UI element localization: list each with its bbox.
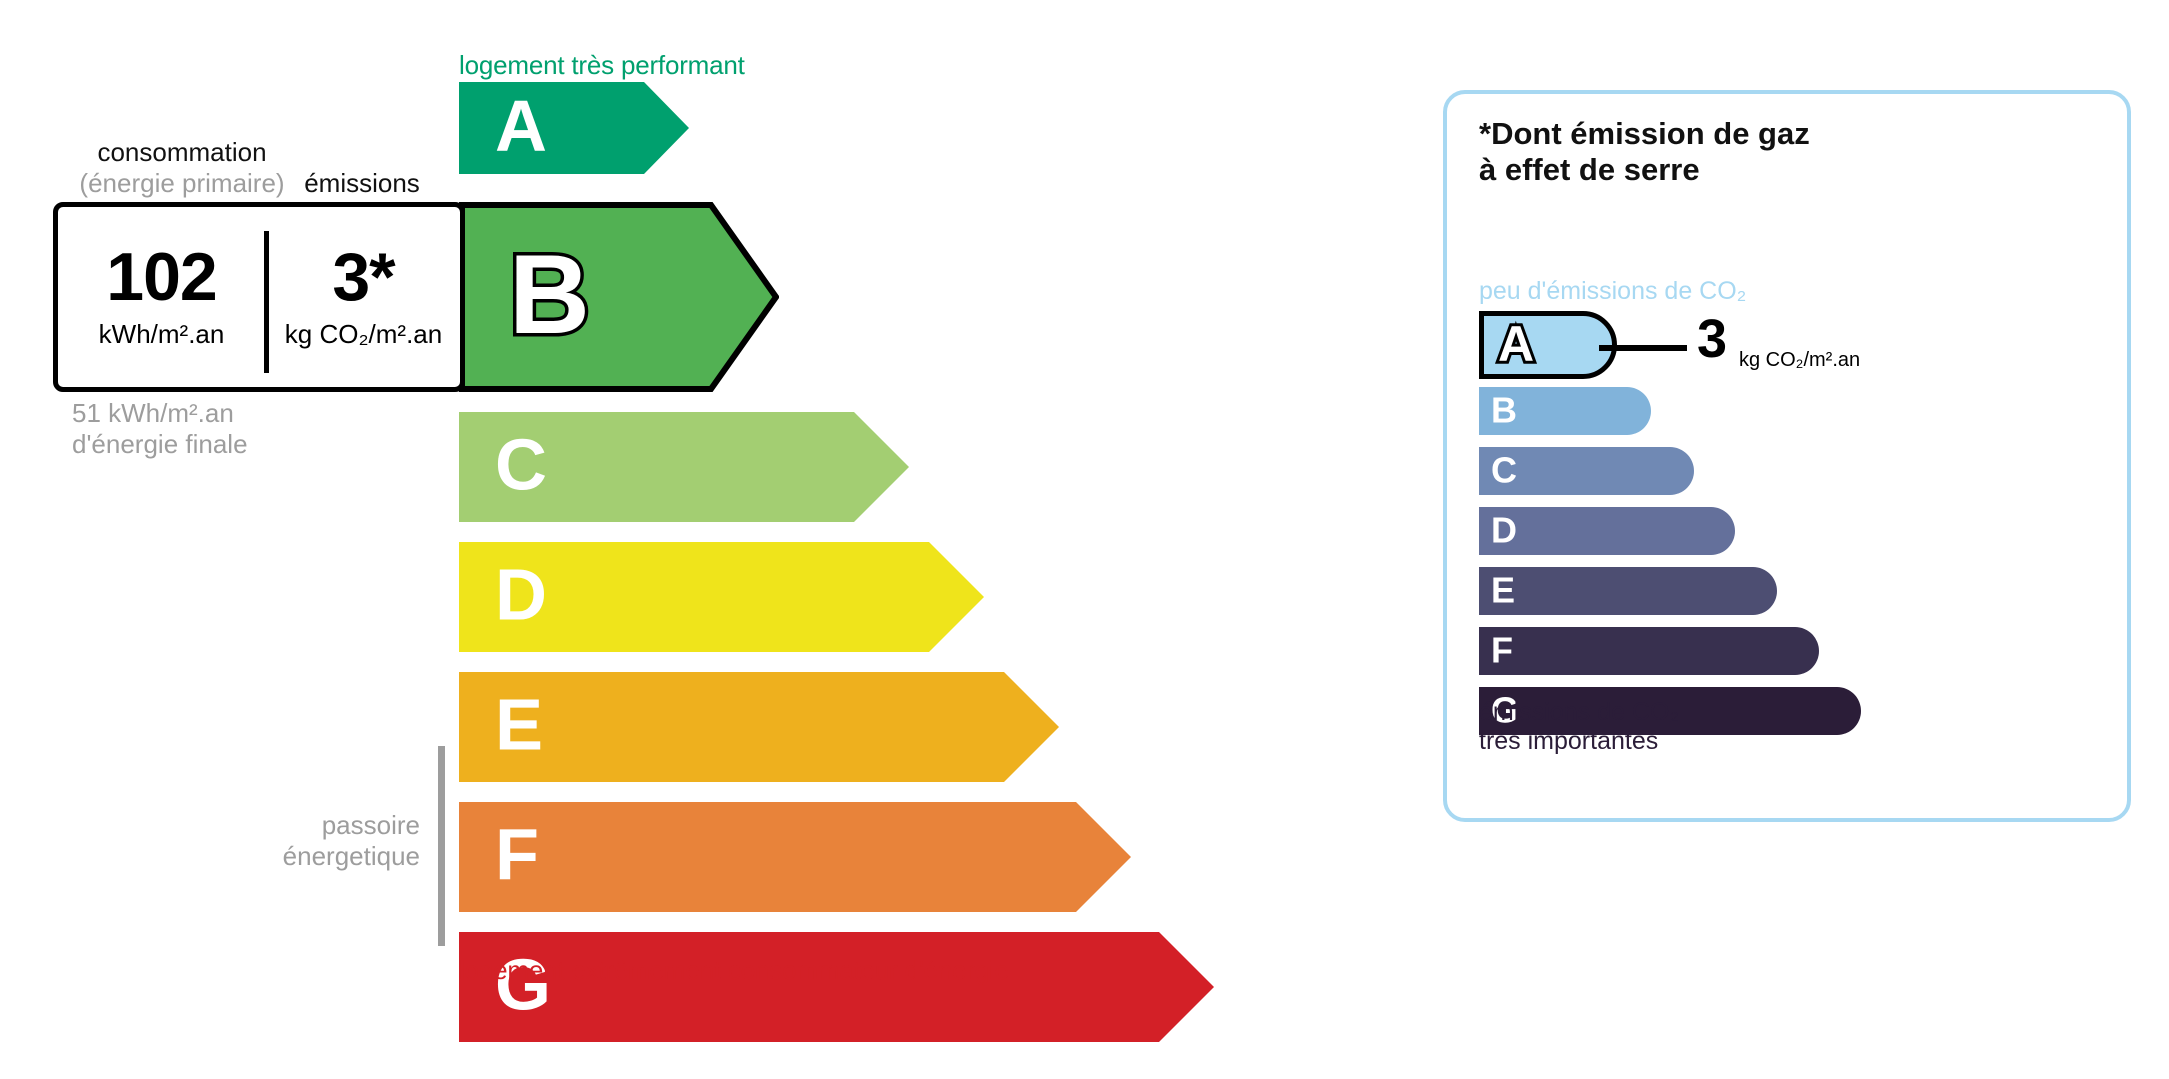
energy-band-g: G: [459, 932, 1214, 1042]
ges-title-line-2: à effet de serre: [1479, 152, 1810, 188]
energy-band-shape-g: [459, 932, 1214, 1042]
emission-unit: kg CO₂/m².an: [285, 319, 442, 350]
ges-title-line-1: *Dont émission de gaz: [1479, 116, 1810, 152]
passoire-label-line-2: énergetique: [230, 841, 420, 872]
ges-bar-d: D: [1479, 507, 1735, 555]
ges-bottom-caption-line-2: très importantes: [1479, 727, 1679, 756]
value-box: 102 kWh/m².an 3* kg CO₂/m².an: [53, 202, 465, 392]
ges-bar-c: C: [1479, 447, 1694, 495]
energy-band-c: C: [459, 412, 909, 522]
consumption-number: 102: [106, 244, 216, 311]
energy-band-f: F: [459, 802, 1131, 912]
ges-bar-b: B: [1479, 387, 1651, 435]
final-energy-line-2: d'énergie finale: [72, 429, 248, 460]
ges-bottom-caption-line-1: émissions de CO₂: [1479, 698, 1679, 727]
final-energy-line-1: 51 kWh/m².an: [72, 398, 248, 429]
dpe-energy-diagram: logement très performant consommation (é…: [0, 0, 1400, 1079]
passoire-bracket: [438, 746, 445, 946]
energy-band-shape-c: [459, 412, 909, 522]
ges-bottom-caption: émissions de CO₂ très importantes: [1479, 698, 1679, 756]
header-emissions: émissions: [262, 168, 462, 199]
energy-band-a: A: [459, 82, 689, 174]
energy-band-shape-f: [459, 802, 1131, 912]
ges-bar-e: E: [1479, 567, 1777, 615]
ges-value: 3: [1697, 312, 1727, 366]
header-consommation: consommation: [62, 137, 302, 168]
emission-value-cell: 3* kg CO₂/m².an: [265, 207, 462, 387]
ges-panel: *Dont émission de gaz à effet de serre p…: [1443, 90, 2131, 822]
ges-leader-line: [1599, 345, 1687, 351]
energy-band-shape-e: [459, 672, 1059, 782]
energy-band-shape-b: [459, 202, 779, 392]
consumption-value-cell: 102 kWh/m².an: [58, 207, 265, 387]
ges-bar-letter-b: B: [1491, 392, 1517, 428]
ges-bar-letter-f: F: [1491, 632, 1513, 668]
energy-band-shape-d: [459, 542, 984, 652]
energy-band-b: B: [459, 202, 779, 392]
emission-number: 3*: [332, 244, 394, 311]
passoire-label: passoire énergetique: [230, 810, 420, 871]
consumption-unit: kWh/m².an: [99, 319, 225, 350]
energy-bottom-caption: logement extrêmement consommateur d'éner…: [459, 955, 1009, 986]
energy-band-shape-a: [459, 82, 689, 174]
ges-bar-a: A: [1479, 311, 1617, 379]
ges-bar-letter-c: C: [1491, 452, 1517, 488]
passoire-label-line-1: passoire: [230, 810, 420, 841]
energy-top-caption: logement très performant: [459, 50, 745, 81]
energy-band-d: D: [459, 542, 984, 652]
ges-bar-f: F: [1479, 627, 1819, 675]
ges-value-unit: kg CO₂/m².an: [1739, 349, 1860, 372]
ges-bar-letter-a: A: [1498, 319, 1534, 369]
ges-bar-letter-e: E: [1491, 572, 1515, 608]
ges-bar-letter-d: D: [1491, 512, 1517, 548]
ges-title: *Dont émission de gaz à effet de serre: [1479, 116, 1810, 188]
energy-band-e: E: [459, 672, 1059, 782]
ges-top-caption: peu d'émissions de CO₂: [1479, 277, 1746, 306]
final-energy-note: 51 kWh/m².an d'énergie finale: [72, 398, 248, 459]
